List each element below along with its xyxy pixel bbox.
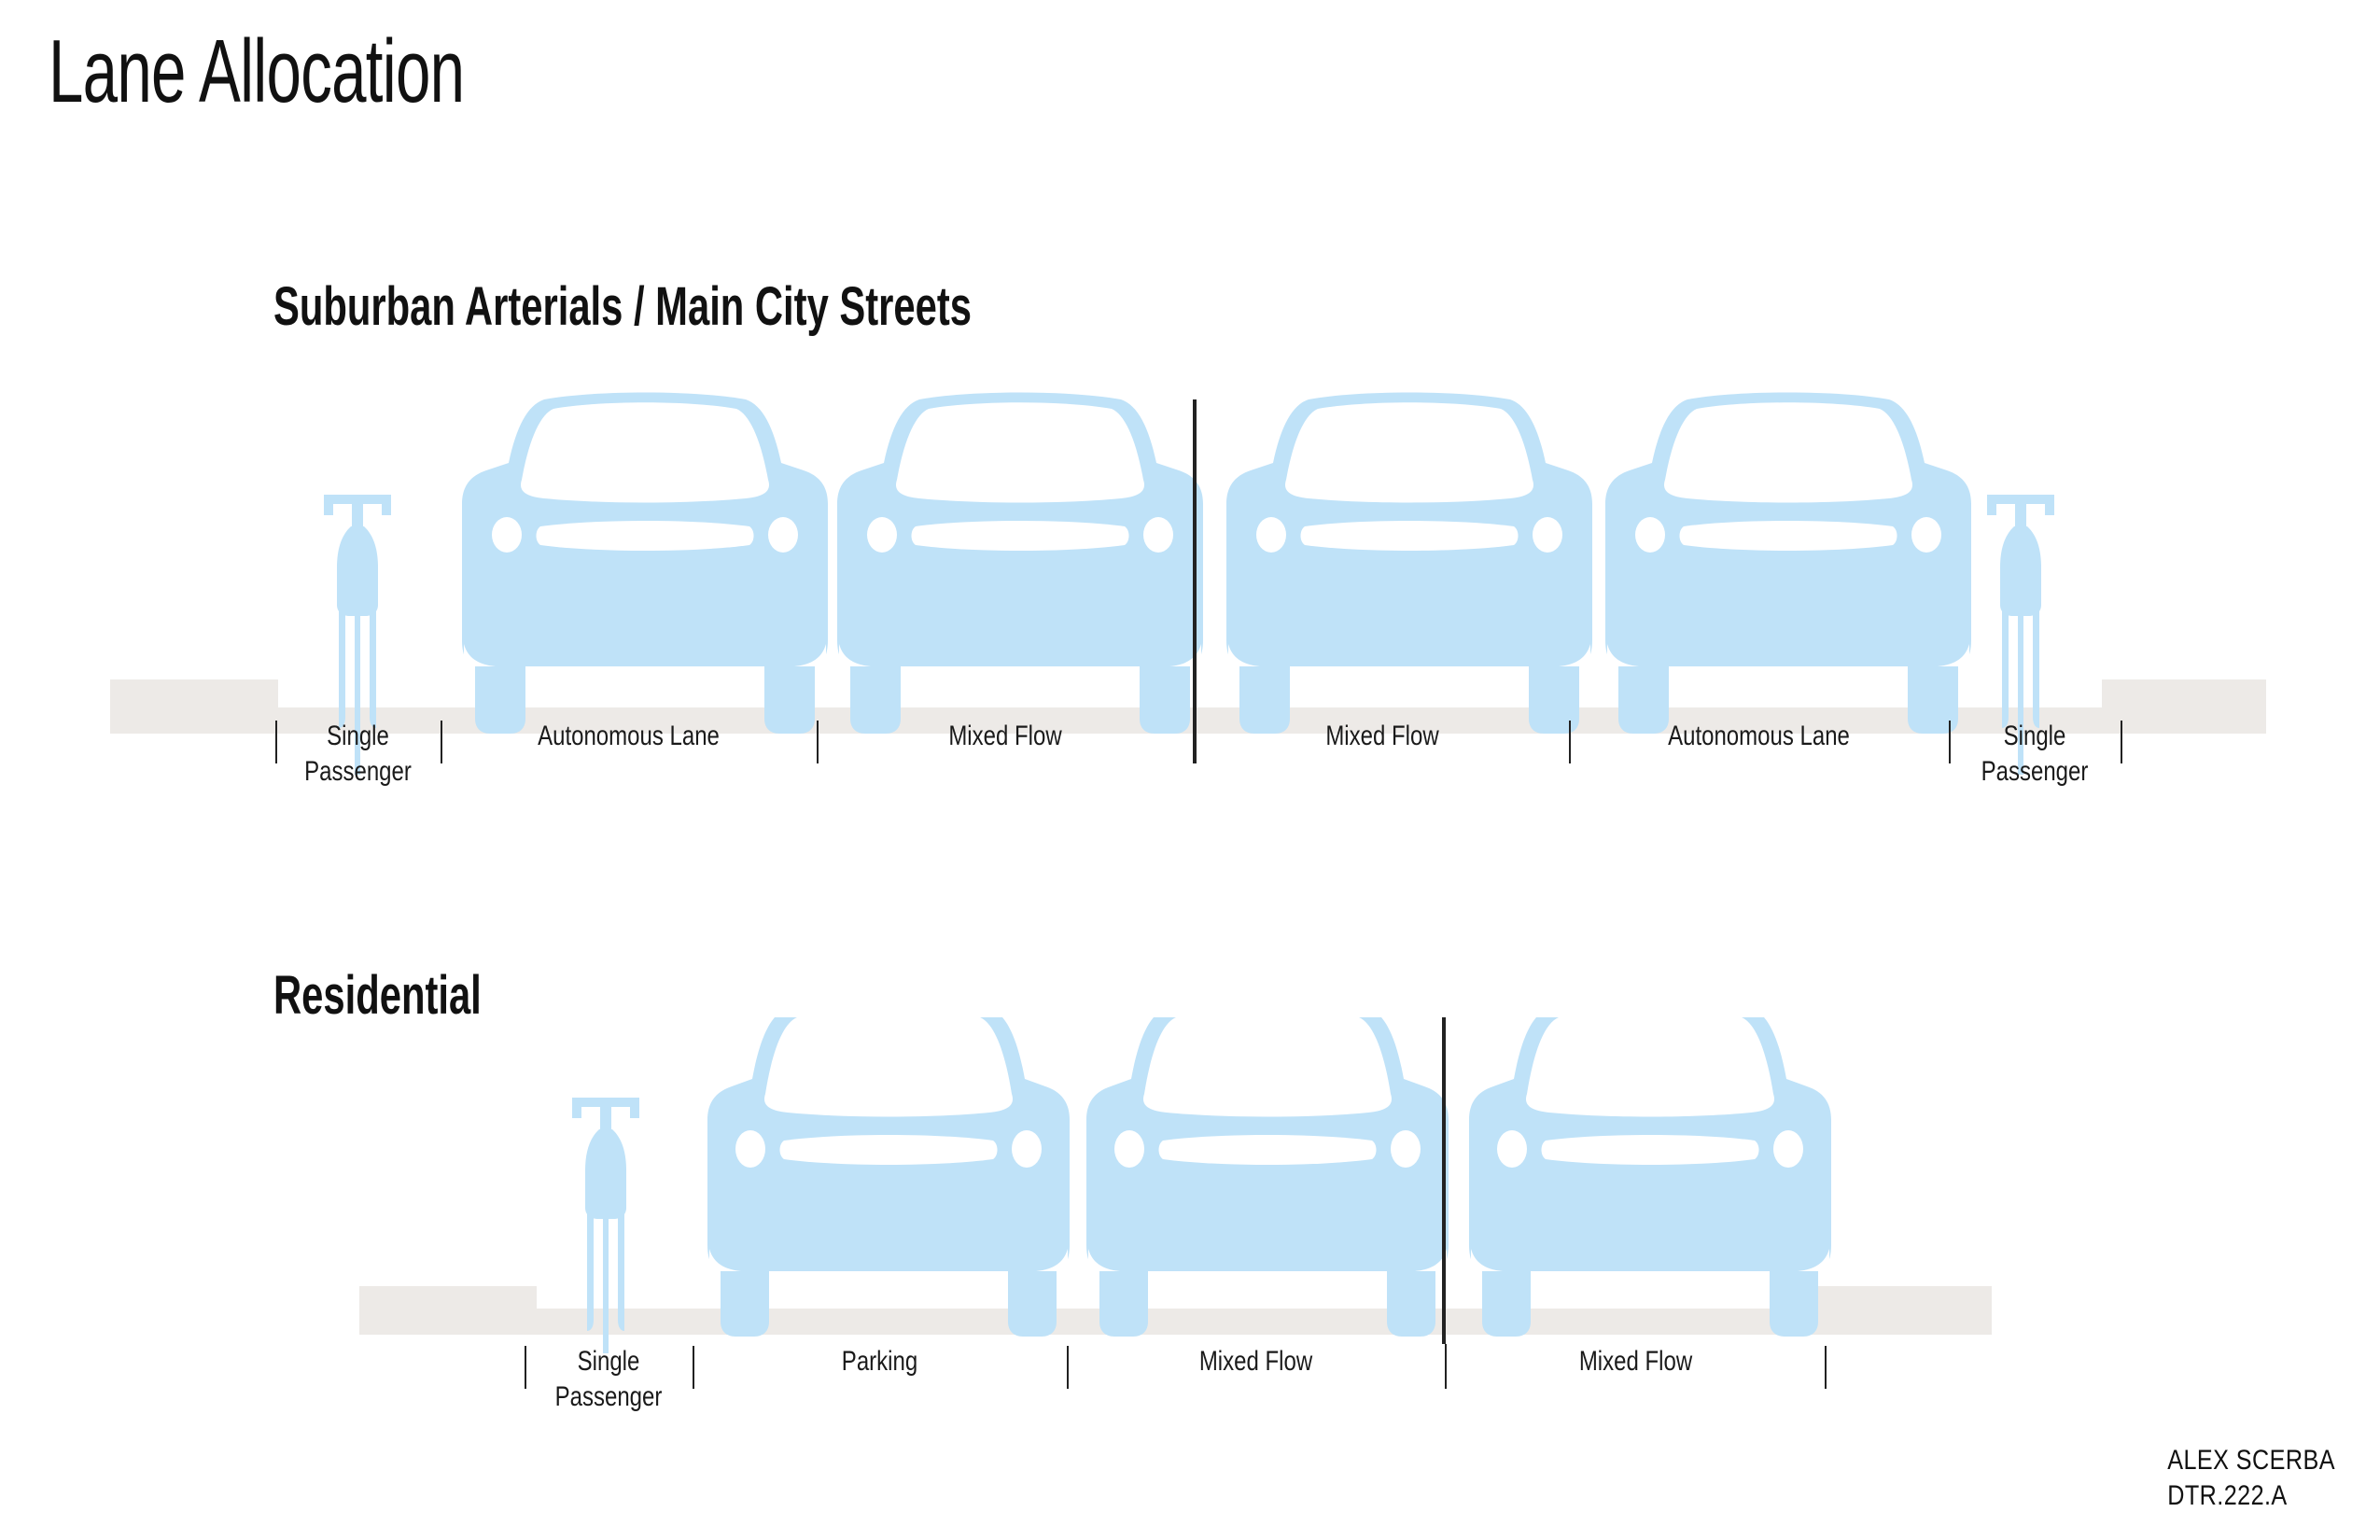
lane-tick: [817, 721, 819, 763]
lane-label-autonomous-lane: Autonomous Lane: [1607, 719, 1911, 754]
median-divider-line: [1193, 399, 1197, 763]
car-icon: [837, 393, 1203, 735]
lane-label-mixed-flow: Mixed Flow: [854, 719, 1155, 754]
lane-tick: [1194, 719, 1196, 763]
diagram-suburban-arterials: [0, 373, 2380, 775]
lane-label-mixed-flow: Mixed Flow: [1105, 1344, 1407, 1379]
lane-tick: [525, 1346, 526, 1389]
lane-tick: [1569, 721, 1571, 763]
diagram-residential: [0, 1017, 2380, 1353]
lane-label-mixed-flow: Mixed Flow: [1233, 719, 1532, 754]
car-icon: [707, 1017, 1070, 1337]
lane-tick: [1067, 1346, 1069, 1389]
section-heading-suburban: Suburban Arterials / Main City Streets: [273, 275, 972, 338]
car-icon: [462, 393, 828, 735]
median-divider-line: [1442, 1017, 1446, 1344]
lane-tick: [1949, 721, 1951, 763]
car-icon: [1605, 393, 1971, 735]
lane-label-row-suburban: Single Passenger Autonomous Lane Mixed F…: [0, 719, 2380, 821]
lane-label-single-passenger: Single Passenger: [292, 719, 425, 790]
car-icon: [1469, 1017, 1831, 1337]
car-icon: [1086, 1017, 1449, 1337]
lane-label-parking: Parking: [730, 1344, 1029, 1379]
lane-tick: [1445, 1344, 1447, 1389]
lane-label-mixed-flow: Mixed Flow: [1485, 1344, 1787, 1379]
lane-tick: [275, 721, 277, 763]
lane-label-single-passenger: Single Passenger: [541, 1344, 676, 1415]
lane-label-single-passenger: Single Passenger: [1966, 719, 2103, 790]
lane-tick: [441, 721, 442, 763]
credit-code: DTR.222.A: [2167, 1478, 2335, 1514]
lane-label-row-residential: Single Passenger Parking Mixed Flow Mixe…: [0, 1344, 2380, 1447]
credit-block: ALEX SCERBA DTR.222.A: [2167, 1443, 2335, 1514]
lane-tick: [1825, 1346, 1827, 1389]
page-title: Lane Allocation: [49, 21, 464, 123]
car-icon: [1226, 393, 1592, 735]
lane-label-autonomous-lane: Autonomous Lane: [478, 719, 778, 754]
lane-tick: [2121, 721, 2122, 763]
lane-tick: [693, 1346, 694, 1389]
credit-author: ALEX SCERBA: [2167, 1443, 2335, 1478]
